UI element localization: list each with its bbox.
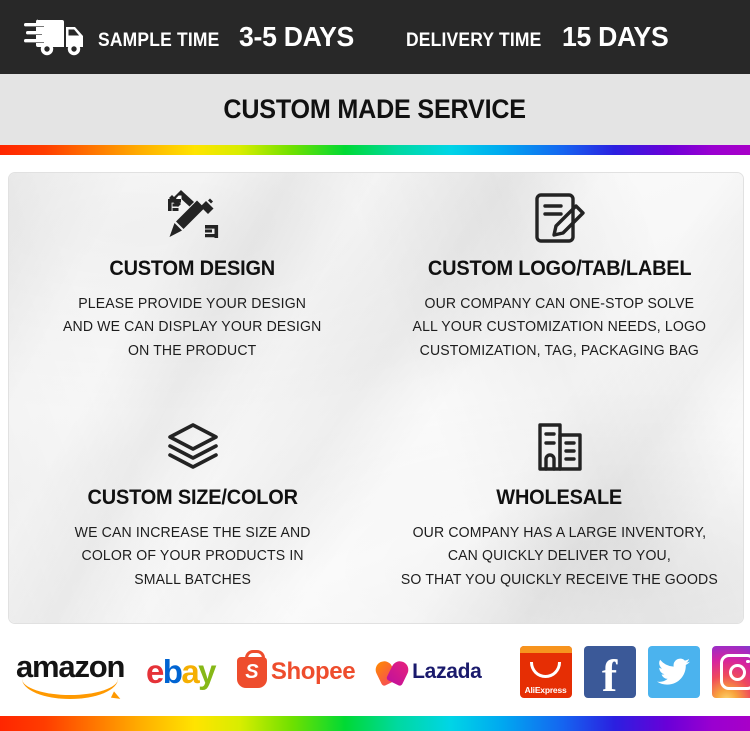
feature-line: SO THAT YOU QUICKLY RECEIVE THE GOODS (401, 569, 718, 592)
shopee-bag-icon: S (237, 657, 267, 688)
amazon-logo[interactable]: amazon (16, 652, 124, 692)
lazada-heart-icon (377, 658, 407, 686)
ebay-letter-a: a (181, 653, 198, 690)
feature-description: PLEASE PROVIDE YOUR DESIGN AND WE CAN DI… (59, 293, 325, 363)
feature-line: ON THE PRODUCT (63, 340, 321, 363)
twitter-icon[interactable] (648, 646, 700, 698)
feature-line: WE CAN INCREASE THE SIZE AND (75, 522, 311, 545)
delivery-time-label: DELIVERY TIME (406, 30, 541, 52)
feature-description: WE CAN INCREASE THE SIZE AND COLOR OF YO… (71, 522, 314, 592)
page-title: CUSTOM MADE SERVICE (224, 94, 526, 125)
delivery-truck-icon (12, 17, 98, 57)
sample-time-group: SAMPLE TIME 3-5 DAYS (98, 21, 360, 53)
feature-line: SMALL BATCHES (75, 569, 311, 592)
marketplace-logos: amazon ebay S Shopee Lazada (16, 652, 482, 692)
ebay-letter-b: b (163, 653, 182, 690)
feature-line: PLEASE PROVIDE YOUR DESIGN (63, 293, 321, 316)
amazon-smile-arrow-icon (22, 678, 118, 699)
pencil-ruler-design-icon (160, 187, 226, 249)
feature-line: AND WE CAN DISPLAY YOUR DESIGN (63, 316, 321, 339)
aliexpress-icon[interactable]: AliExpress (520, 646, 572, 698)
feature-title: WHOLESALE (497, 486, 623, 510)
feature-line: OUR COMPANY HAS A LARGE INVENTORY, (401, 522, 718, 545)
ebay-logo[interactable]: ebay (146, 655, 215, 689)
feature-title: CUSTOM DESIGN (110, 257, 276, 281)
feature-title: CUSTOM LOGO/TAB/LABEL (428, 257, 691, 281)
aliexpress-label: AliExpress (525, 685, 567, 695)
lazada-wordmark: Lazada (412, 660, 481, 684)
rainbow-divider-top (0, 145, 750, 155)
feature-custom-logo: CUSTOM LOGO/TAB/LABEL OUR COMPANY CAN ON… (376, 173, 743, 398)
layers-stack-icon (164, 416, 222, 478)
shopee-wordmark: Shopee (271, 658, 355, 686)
feature-custom-design: CUSTOM DESIGN PLEASE PROVIDE YOUR DESIGN… (9, 173, 376, 398)
shopee-mark-letter: S (237, 657, 267, 688)
ebay-letter-e: e (146, 653, 163, 690)
warehouse-building-icon (532, 416, 588, 478)
facebook-icon[interactable]: f (584, 646, 636, 698)
sample-time-value: 3-5 DAYS (239, 21, 354, 53)
delivery-time-group: DELIVERY TIME 15 DAYS (406, 21, 674, 53)
partner-logos-row: amazon ebay S Shopee Lazada AliE (0, 630, 750, 714)
feature-wholesale: WHOLESALE OUR COMPANY HAS A LARGE INVENT… (376, 398, 743, 623)
aliexpress-smile-shape (530, 662, 561, 678)
sample-time-label: SAMPLE TIME (98, 30, 219, 52)
shopee-logo[interactable]: S Shopee (237, 657, 355, 688)
shipping-info-bar: SAMPLE TIME 3-5 DAYS DELIVERY TIME 15 DA… (0, 0, 750, 74)
feature-description: OUR COMPANY HAS A LARGE INVENTORY, CAN Q… (396, 522, 723, 592)
social-icons: AliExpress f P (520, 646, 750, 698)
aliexpress-top-strip (520, 646, 572, 653)
feature-title: CUSTOM SIZE/COLOR (87, 486, 297, 510)
feature-custom-size-color: CUSTOM SIZE/COLOR WE CAN INCREASE THE SI… (9, 398, 376, 623)
document-pencil-label-icon (531, 187, 589, 249)
delivery-time-value: 15 DAYS (562, 21, 668, 53)
feature-line: COLOR OF YOUR PRODUCTS IN (75, 545, 311, 568)
instagram-icon[interactable] (712, 646, 750, 698)
feature-line: CAN QUICKLY DELIVER TO YOU, (401, 545, 718, 568)
features-panel: CUSTOM DESIGN PLEASE PROVIDE YOUR DESIGN… (8, 172, 744, 624)
feature-line: OUR COMPANY CAN ONE-STOP SOLVE (413, 293, 707, 316)
section-header: CUSTOM MADE SERVICE (0, 74, 750, 145)
promo-banner: SAMPLE TIME 3-5 DAYS DELIVERY TIME 15 DA… (0, 0, 750, 731)
rainbow-divider-bottom (0, 716, 750, 731)
feature-description: OUR COMPANY CAN ONE-STOP SOLVE ALL YOUR … (408, 293, 711, 363)
ebay-letter-y: y (198, 653, 215, 690)
facebook-f-glyph: f (602, 655, 617, 698)
feature-line: ALL YOUR CUSTOMIZATION NEEDS, LOGO (413, 316, 707, 339)
lazada-logo[interactable]: Lazada (377, 658, 481, 686)
instagram-camera-shape (720, 654, 750, 690)
feature-line: CUSTOMIZATION, TAG, PACKAGING BAG (413, 340, 707, 363)
